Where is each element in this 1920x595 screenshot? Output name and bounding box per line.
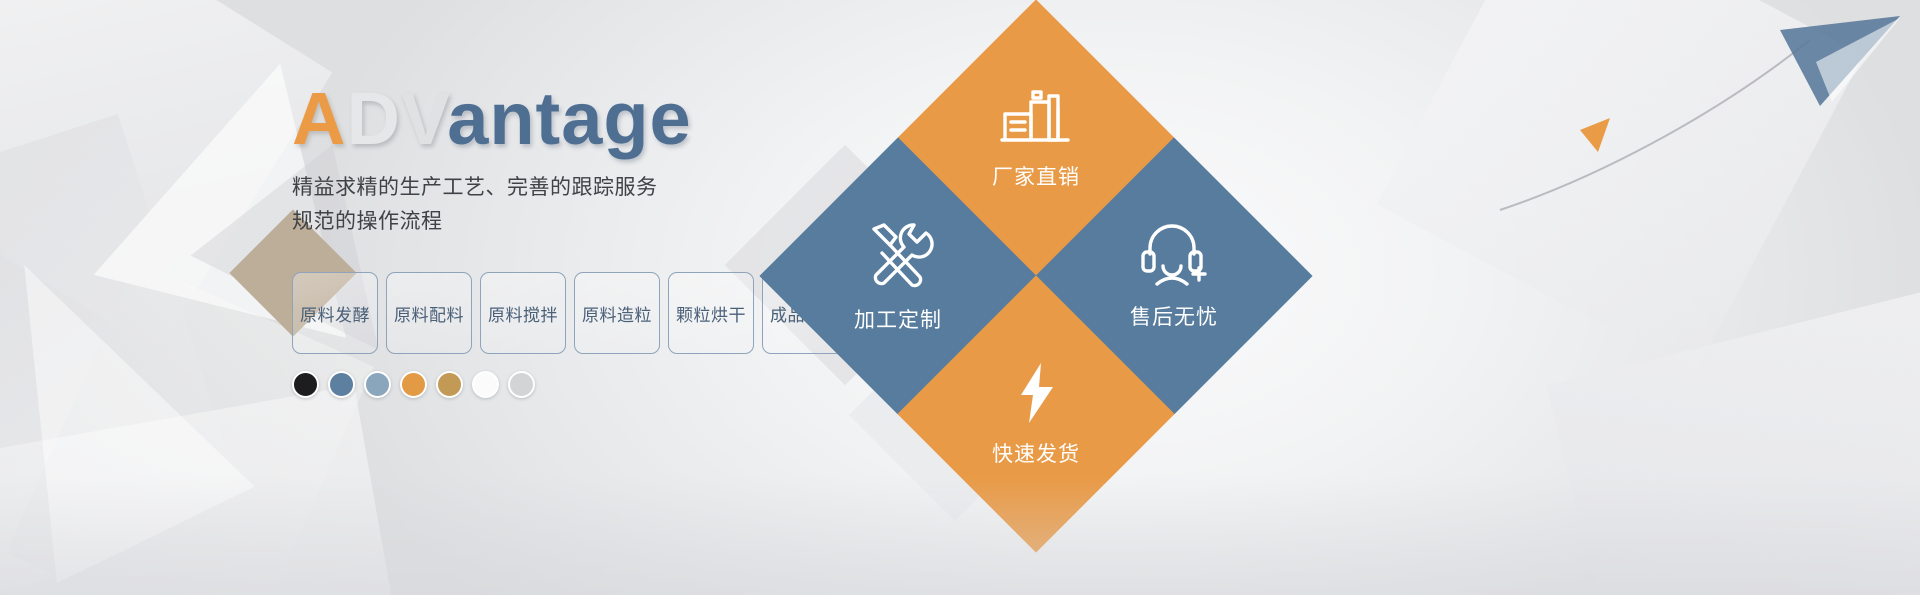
subtitle: 精益求精的生产工艺、完善的跟踪服务 规范的操作流程 bbox=[292, 171, 658, 239]
title-letter-v: V bbox=[401, 77, 447, 160]
tools-icon bbox=[860, 219, 936, 296]
advantage-banner: ADVantage 精益求精的生产工艺、完善的跟踪服务 规范的操作流程 原料发酵… bbox=[0, 0, 1920, 595]
advantage-label: 售后无忧 bbox=[1130, 301, 1218, 331]
color-swatch[interactable] bbox=[364, 371, 391, 398]
color-swatch-list bbox=[292, 371, 535, 398]
subtitle-line-1: 精益求精的生产工艺、完善的跟踪服务 bbox=[292, 171, 658, 205]
process-step[interactable]: 原料造粒 bbox=[574, 272, 660, 354]
advantage-label: 快速发货 bbox=[992, 438, 1080, 468]
process-step[interactable]: 原料搅拌 bbox=[480, 272, 566, 354]
factory-icon bbox=[999, 86, 1073, 153]
advantage-diamond-cluster: 厂家直销 售后无忧 bbox=[896, 22, 1516, 422]
color-swatch[interactable] bbox=[400, 371, 427, 398]
subtitle-line-2: 规范的操作流程 bbox=[292, 205, 658, 239]
process-step-list: 原料发酵 原料配料 原料搅拌 原料造粒 颗粒烘干 成品包装 bbox=[292, 272, 848, 354]
process-step[interactable]: 原料发酵 bbox=[292, 272, 378, 354]
advantage-label: 加工定制 bbox=[854, 304, 942, 334]
color-swatch[interactable] bbox=[436, 371, 463, 398]
title-letter-a: A bbox=[292, 77, 346, 160]
bottom-vignette bbox=[0, 475, 1920, 595]
title-suffix: antage bbox=[447, 77, 692, 160]
advantage-label: 厂家直销 bbox=[992, 161, 1080, 191]
color-swatch[interactable] bbox=[508, 371, 535, 398]
page-title: ADVantage bbox=[292, 82, 692, 156]
color-swatch[interactable] bbox=[472, 371, 499, 398]
process-step[interactable]: 原料配料 bbox=[386, 272, 472, 354]
headset-icon bbox=[1137, 222, 1211, 293]
color-swatch[interactable] bbox=[328, 371, 355, 398]
title-letter-d: D bbox=[346, 77, 400, 160]
color-swatch[interactable] bbox=[292, 371, 319, 398]
process-step[interactable]: 颗粒烘干 bbox=[668, 272, 754, 354]
swoosh-arrow-decoration bbox=[1480, 10, 1910, 250]
lightning-icon bbox=[1013, 361, 1059, 430]
